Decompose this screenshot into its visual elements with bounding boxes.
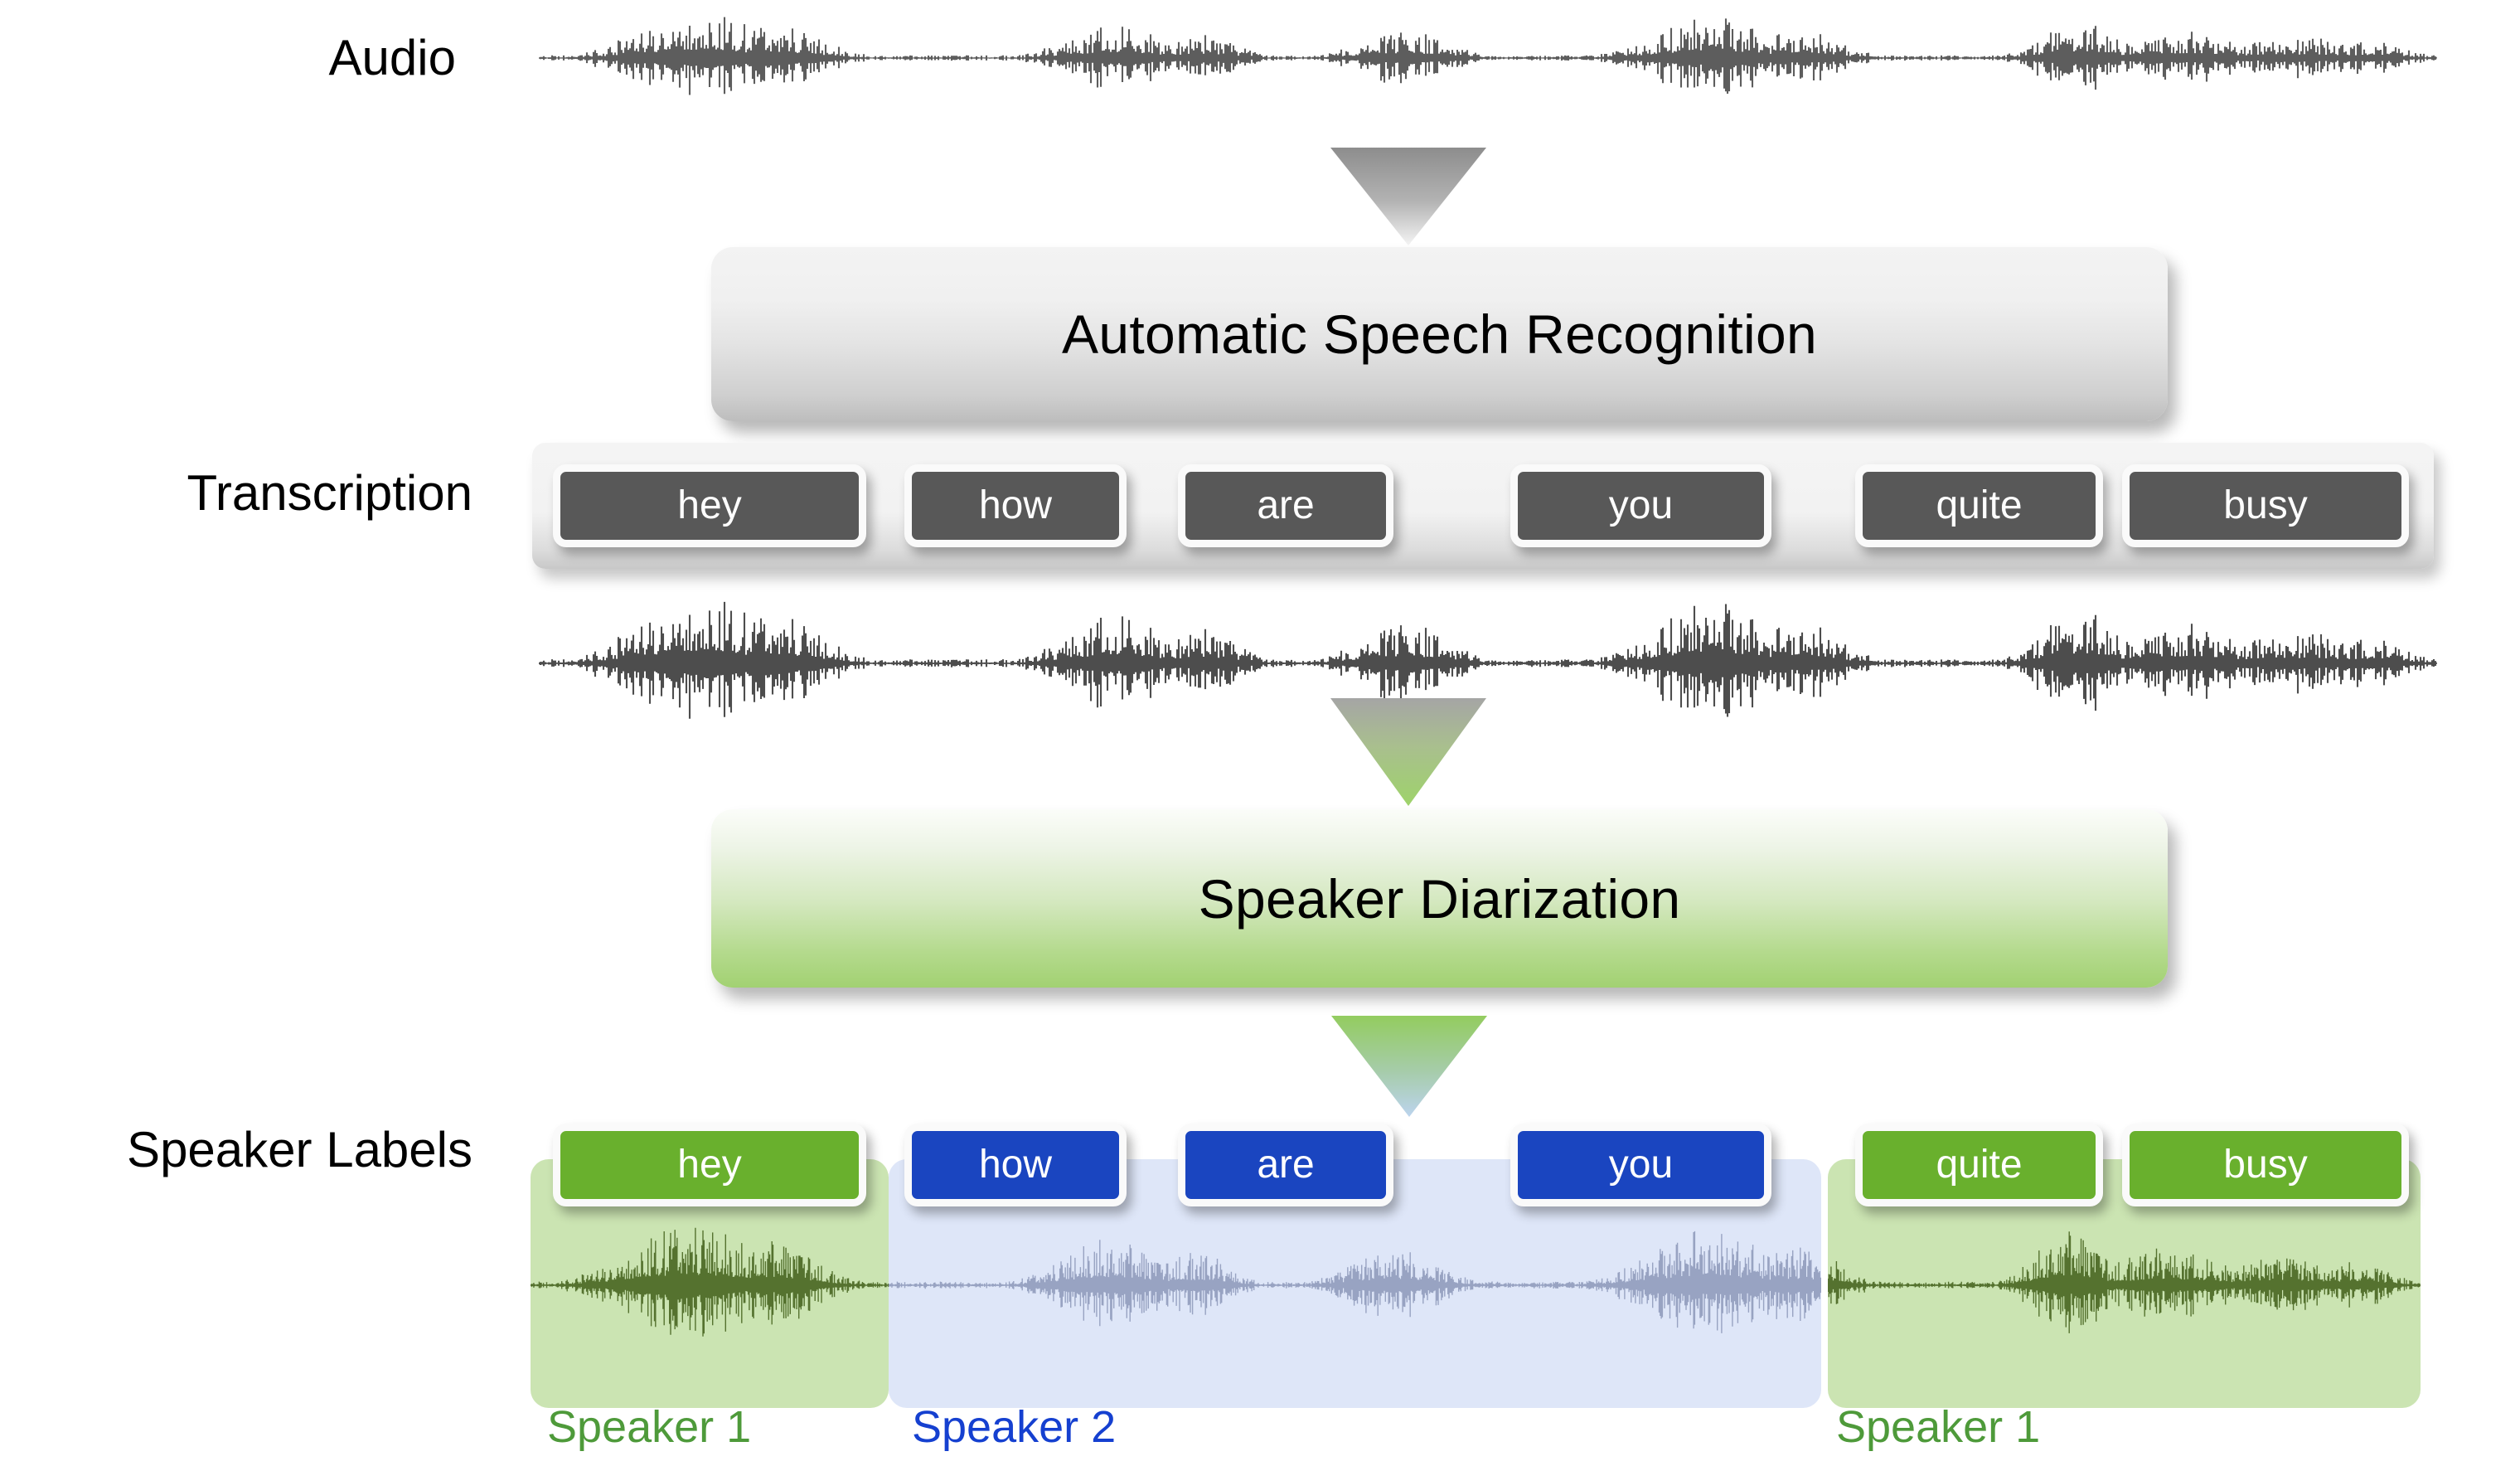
speaker-label-word-busy[interactable]: busy (2122, 1124, 2409, 1206)
chip-label: busy (2223, 1145, 2307, 1185)
speaker-waveform-segment-3 (1828, 1219, 2421, 1352)
speaker-waveform-segment-2 (889, 1219, 1821, 1352)
chip-label: you (1609, 1145, 1673, 1185)
speaker-name-segment-2: Speaker 2 (912, 1401, 1116, 1453)
transcription-word-busy[interactable]: busy (2122, 464, 2409, 547)
chip-label: hey (677, 1145, 741, 1185)
row-label-transcription: Transcription (87, 464, 472, 522)
arrow-waveform-to-diarization-icon (1330, 698, 1486, 806)
audio-waveform-middle (539, 589, 2437, 738)
speaker-label-word-quite[interactable]: quite (1855, 1124, 2103, 1206)
speaker-label-word-you[interactable]: you (1510, 1124, 1771, 1206)
transcription-word-how[interactable]: how (904, 464, 1127, 547)
chip-label: how (979, 1145, 1052, 1185)
speaker-label-word-how[interactable]: how (904, 1124, 1127, 1206)
chip-label: are (1257, 486, 1314, 526)
speaker-name-segment-1: Speaker 1 (547, 1401, 751, 1453)
stage-label-asr: Automatic Speech Recognition (1062, 303, 1817, 366)
chip-label: busy (2223, 486, 2307, 526)
stage-box-automatic-speech-recognition[interactable]: Automatic Speech Recognition (711, 247, 2168, 421)
arrow-audio-to-asr-icon (1330, 148, 1486, 245)
chip-label: hey (677, 486, 741, 526)
stage-label-diarization: Speaker Diarization (1199, 867, 1681, 930)
speaker-label-word-hey[interactable]: hey (553, 1124, 866, 1206)
chip-label: you (1609, 486, 1673, 526)
arrow-diarization-to-labels-icon (1331, 1016, 1487, 1117)
row-label-speaker-labels: Speaker Labels (33, 1121, 472, 1178)
transcription-word-hey[interactable]: hey (553, 464, 866, 547)
audio-waveform-top (539, 8, 2437, 108)
speaker-waveform-segment-1 (531, 1219, 889, 1352)
chip-label: quite (1936, 1145, 2022, 1185)
row-label-audio: Audio (124, 29, 456, 86)
chip-label: quite (1936, 486, 2022, 526)
stage-box-speaker-diarization[interactable]: Speaker Diarization (711, 809, 2168, 988)
chip-label: how (979, 486, 1052, 526)
speaker-name-segment-3: Speaker 1 (1836, 1401, 2040, 1453)
transcription-word-are[interactable]: are (1178, 464, 1393, 547)
chip-label: are (1257, 1145, 1314, 1185)
transcription-word-you[interactable]: you (1510, 464, 1771, 547)
speaker-label-word-are[interactable]: are (1178, 1124, 1393, 1206)
transcription-word-quite[interactable]: quite (1855, 464, 2103, 547)
